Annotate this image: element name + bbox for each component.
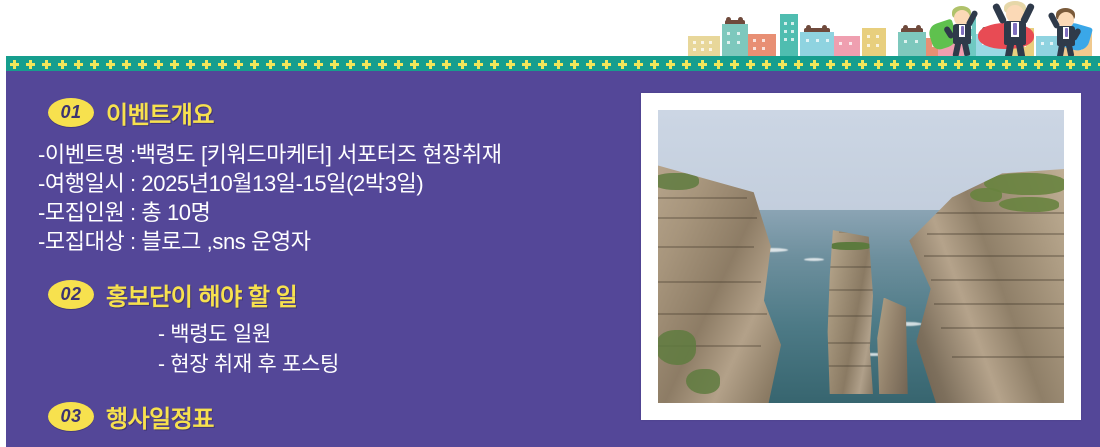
section-01-details: -이벤트명 :백령도 [키워드마케터] 서포터즈 현장취재 -여행일시 : 20…: [38, 140, 502, 256]
section-02-details: - 백령도 일원 - 현장 취재 후 포스팅: [158, 320, 339, 380]
building-icon: [688, 36, 720, 58]
hero-red-icon: [982, 1, 1050, 58]
coastal-cliff-photo: [658, 110, 1064, 403]
building-icon: [748, 34, 776, 58]
detail-line: - 백령도 일원: [158, 320, 339, 350]
cross-pattern: [6, 56, 1100, 72]
building-icon: [834, 36, 860, 58]
event-poster: 01 이벤트개요 -이벤트명 :백령도 [키워드마케터] 서포터즈 현장취재 -…: [0, 0, 1100, 447]
section-heading-02: 02 홍보단이 해야 할 일: [48, 277, 297, 312]
photo-frame: [641, 93, 1081, 420]
building-icon: [862, 28, 886, 58]
building-icon: [722, 24, 748, 58]
detail-line: -이벤트명 :백령도 [키워드마케터] 서포터즈 현장취재: [38, 140, 502, 169]
section-title-03: 행사일정표: [106, 399, 214, 434]
section-number-badge-01: 01: [48, 98, 94, 127]
section-number-badge-03: 03: [48, 402, 94, 431]
detail-line: -모집인원 : 총 10명: [38, 198, 502, 227]
section-heading-01: 01 이벤트개요: [48, 95, 214, 130]
building-icon: [800, 32, 834, 58]
building-icon: [898, 32, 926, 58]
section-title-01: 이벤트개요: [106, 95, 214, 130]
section-heading-03: 03 행사일정표: [48, 399, 214, 434]
detail-line: -모집대상 : 블로그 ,sns 운영자: [38, 227, 502, 256]
superhero-businessmen-icon: [930, 0, 1100, 58]
building-icon: [780, 14, 798, 58]
decorative-divider-strip: [6, 56, 1100, 72]
detail-line: - 현장 취재 후 포스팅: [158, 350, 339, 380]
sea-stack-pillar: [824, 230, 877, 394]
secondary-rock: [877, 298, 909, 395]
top-banner: [0, 0, 1100, 58]
section-number-badge-02: 02: [48, 280, 94, 309]
stack-grass: [830, 242, 871, 250]
hero-blue-icon: [1042, 8, 1098, 58]
section-title-02: 홍보단이 해야 할 일: [106, 277, 297, 312]
detail-line: -여행일시 : 2025년10월13일-15일(2박3일): [38, 169, 502, 198]
